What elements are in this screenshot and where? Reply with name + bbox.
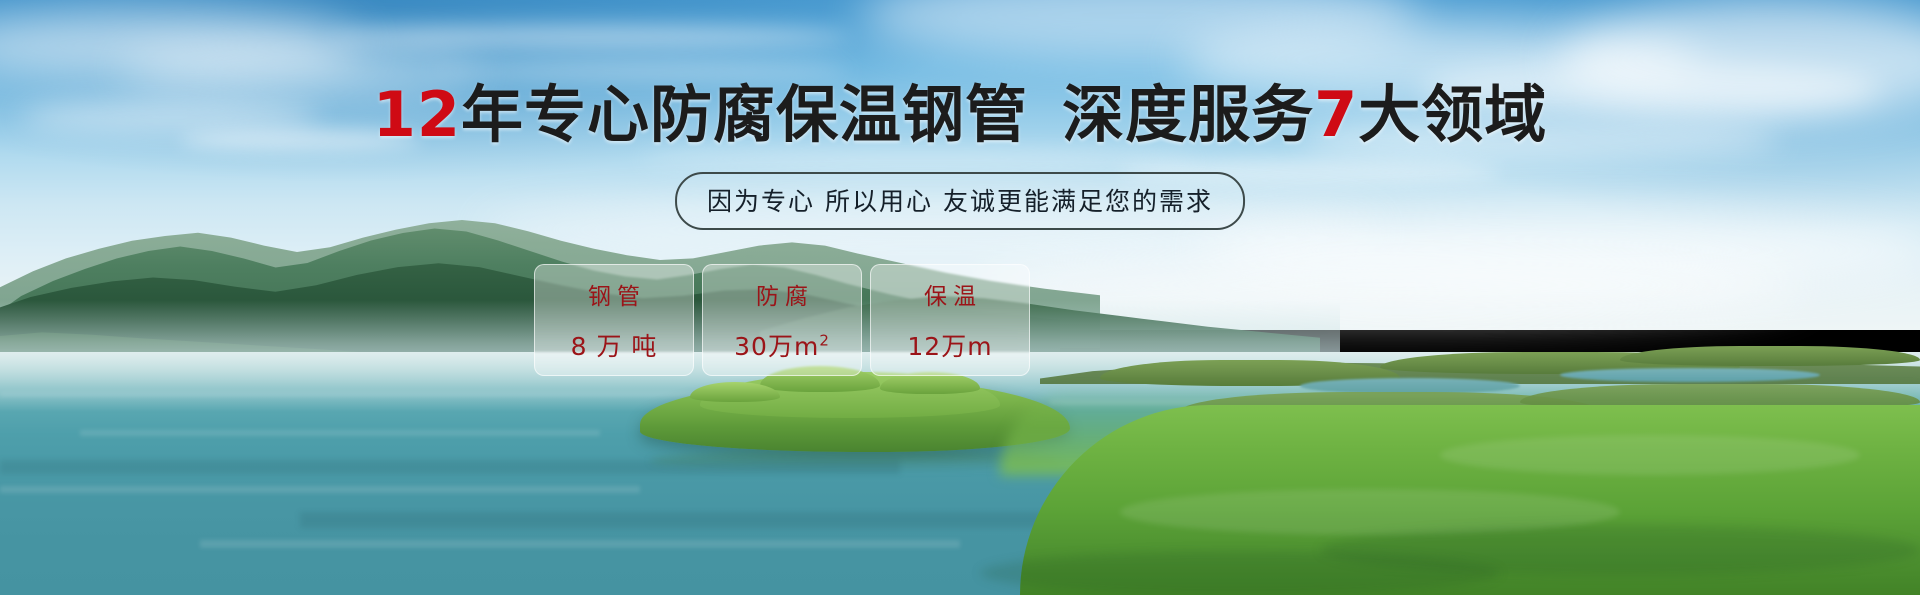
cloud-wisp [430,62,850,78]
headline-main-text: 年专心防腐保温钢管 [461,78,1028,151]
cloud-wisp [330,26,850,48]
water-ripple [0,392,700,397]
grass-shadow [980,551,1500,595]
stat-card-value: 8 万 吨 [571,327,658,363]
stat-value-text: 30万m [734,332,819,361]
water-ripple [0,486,640,493]
wetland-pool [1560,368,1820,382]
subtitle-pill: 因为专心 所以用心 友诚更能满足您的需求 [675,172,1245,230]
water-ripple [200,540,960,548]
grass-highlight [1440,435,1860,475]
stat-card-value: 30万m2 [734,327,830,363]
stat-card-insulation[interactable]: 保温 12万m [870,264,1030,376]
stat-value-text: 12万m [907,332,992,361]
island-reflection [650,450,1060,472]
hero-banner: 12年专心防腐保温钢管深度服务7大领域 因为专心 所以用心 友诚更能满足您的需求… [0,0,1920,595]
stat-card-value: 12万m [907,327,992,363]
stat-card-label: 防腐 [750,277,814,311]
stat-cards: 钢管 8 万 吨 防腐 30万m2 保温 12万m [534,264,1030,376]
page-title: 12年专心防腐保温钢管深度服务7大领域 [0,84,1920,146]
headline-service-text: 深度服务 [1062,78,1314,151]
stat-value-superscript: 2 [819,332,830,350]
cloud-wisp [640,150,1200,168]
water-ripple [80,430,600,436]
wetland-patch [1620,346,1920,366]
headline-fields-number: 7 [1314,78,1358,151]
headline-years-number: 12 [373,78,461,151]
headline-fields-text: 大领域 [1358,78,1547,151]
stat-card-steel-pipe[interactable]: 钢管 8 万 吨 [534,264,694,376]
stat-value-text: 8 万 吨 [571,332,658,361]
stat-card-label: 保温 [918,277,982,311]
stat-card-anticorrosion[interactable]: 防腐 30万m2 [702,264,862,376]
stat-card-label: 钢管 [582,277,646,311]
